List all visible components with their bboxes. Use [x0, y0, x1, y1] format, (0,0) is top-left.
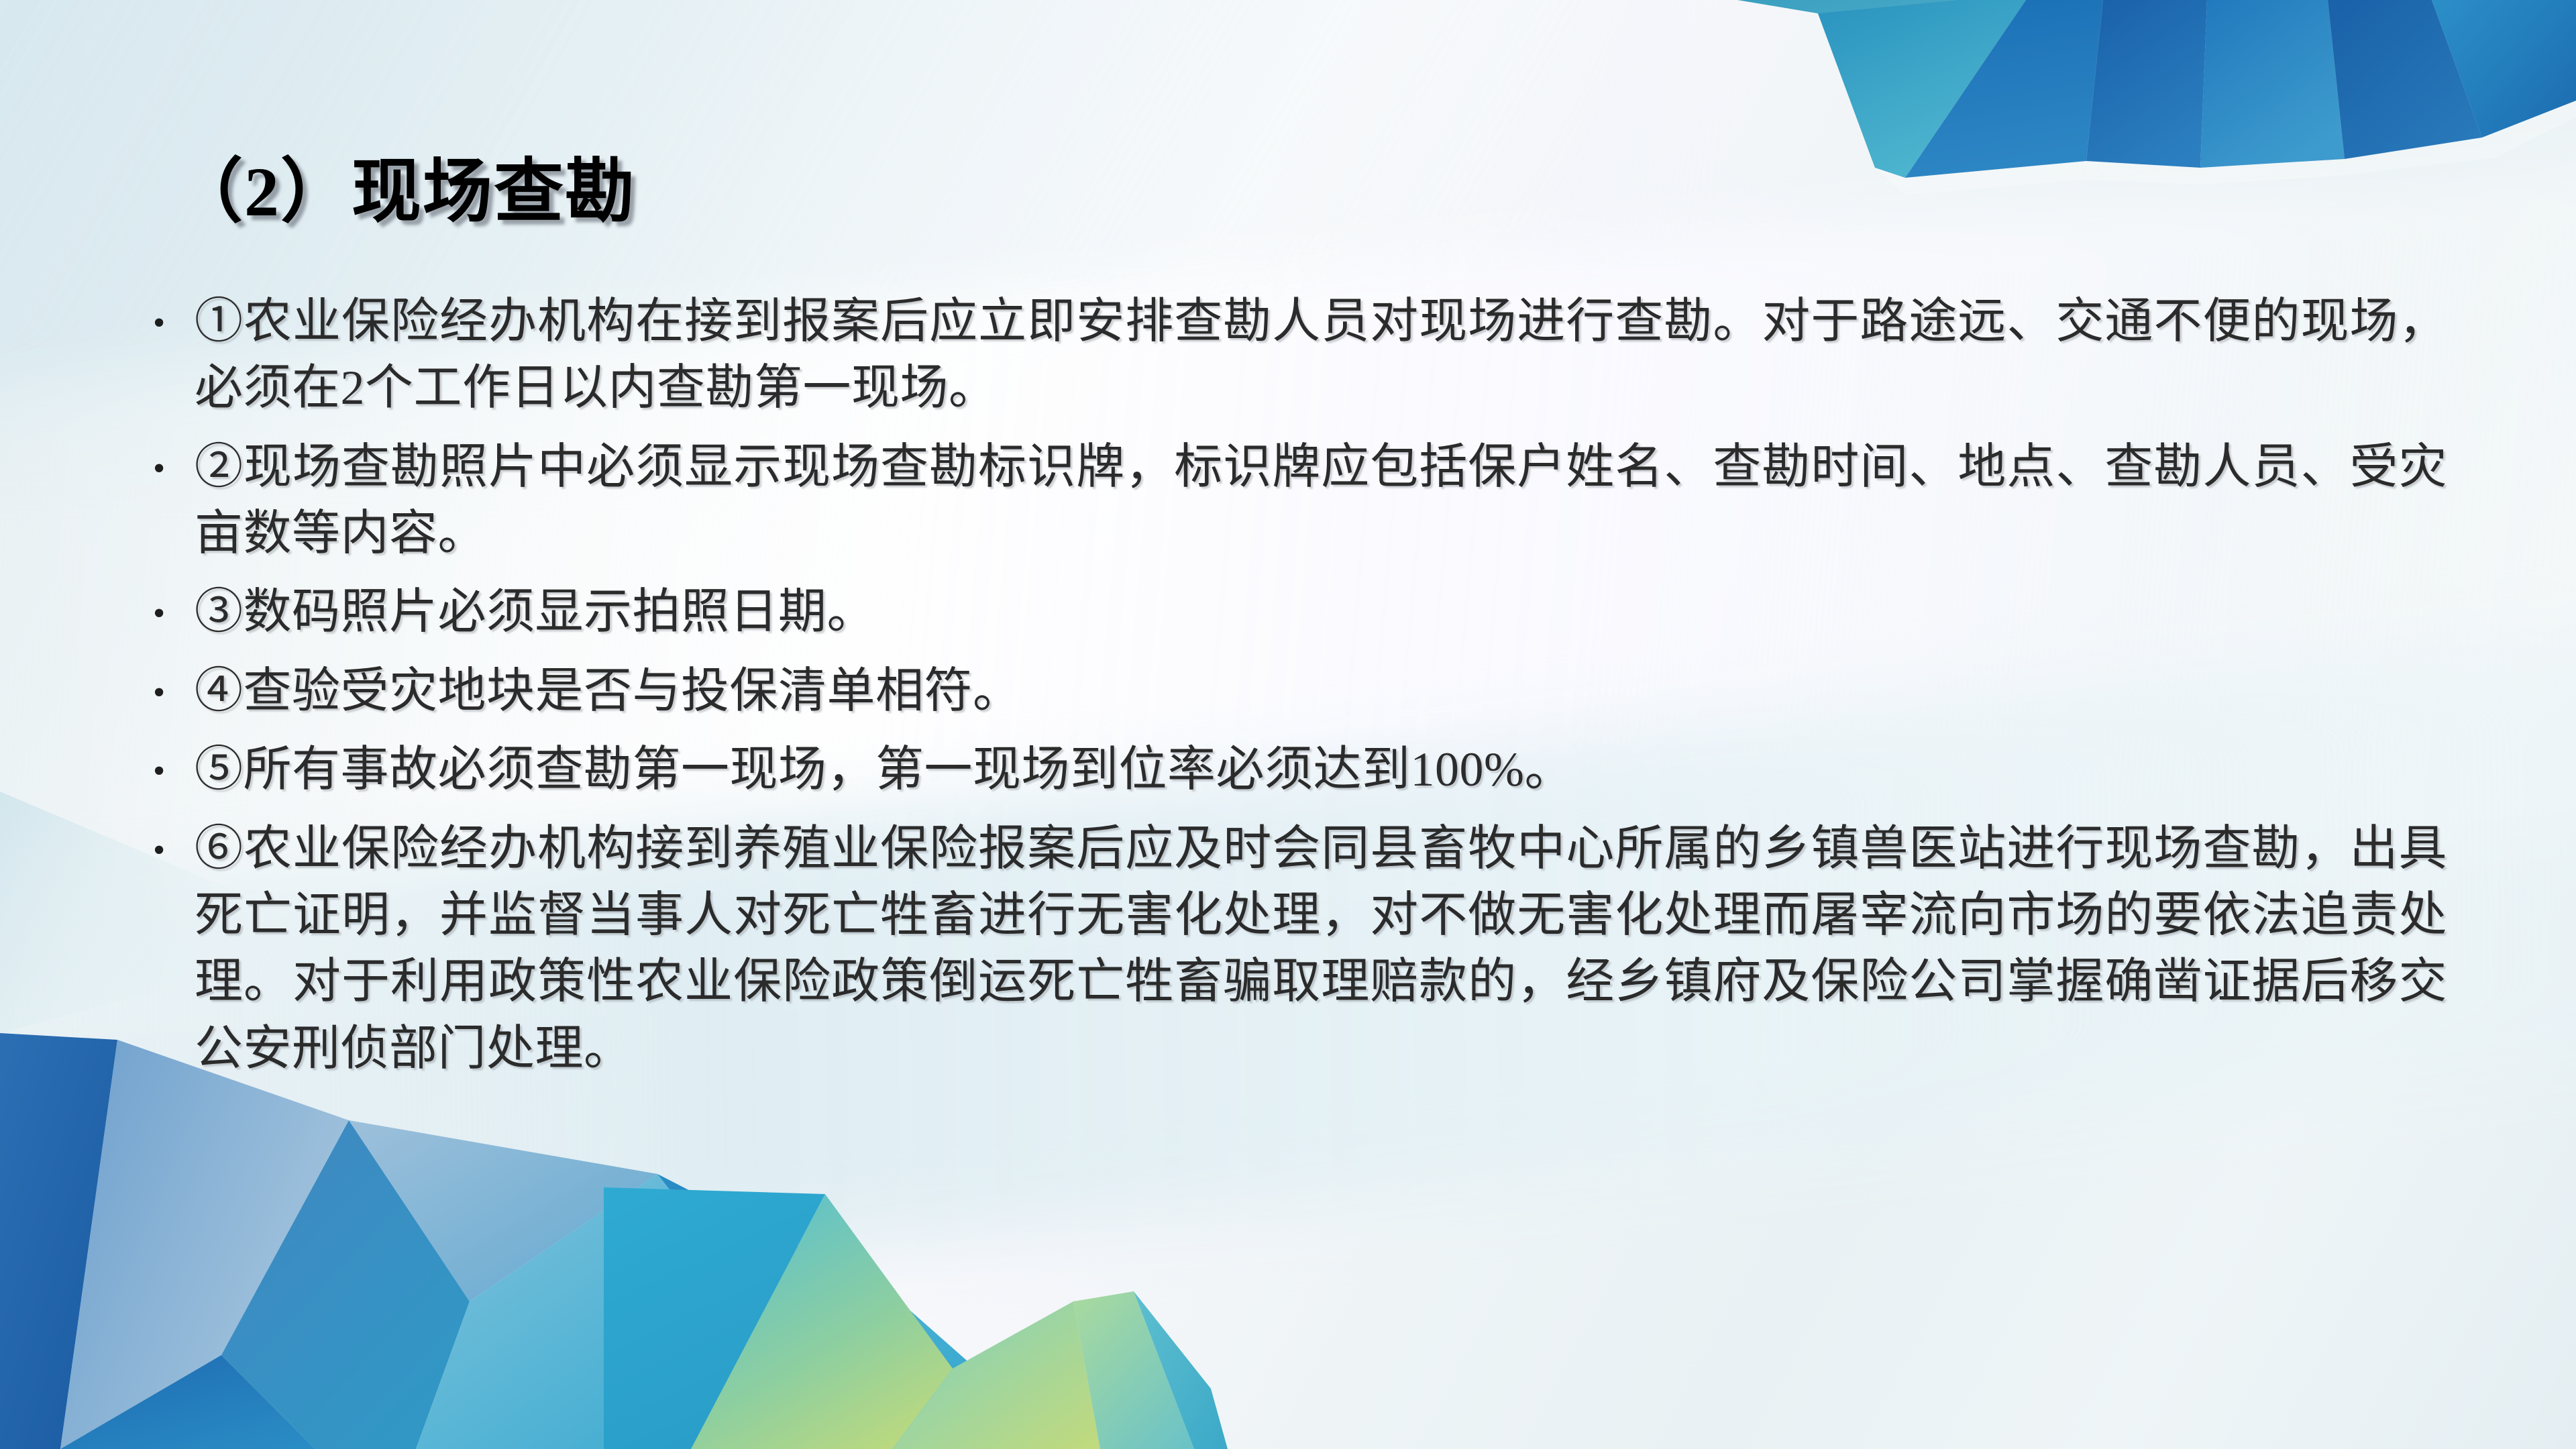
list-item-text: ①农业保险经办机构在接到报案后应立即安排查勘人员对现场进行查勘。对于路途远、交通…: [195, 288, 2447, 422]
slide-content: （2）现场查勘 ①农业保险经办机构在接到报案后应立即安排查勘人员对现场进行查勘。…: [0, 0, 2576, 1449]
page-title: （2）现场查勘: [173, 134, 636, 235]
bullet-marker-icon: [153, 658, 195, 710]
bullet-list: ①农业保险经办机构在接到报案后应立即安排查勘人员对现场进行查勘。对于路途远、交通…: [153, 288, 2447, 1094]
bullet-marker-icon: [153, 737, 195, 789]
list-item-text: ③数码照片必须显示拍照日期。: [195, 579, 2447, 645]
list-item: ⑤所有事故必须查勘第一现场，第一现场到位率必须达到100%。: [153, 737, 2447, 803]
slide-canvas: （2）现场查勘 ①农业保险经办机构在接到报案后应立即安排查勘人员对现场进行查勘。…: [0, 0, 2576, 1449]
list-item-text: ④查验受灾地块是否与投保清单相符。: [195, 658, 2447, 724]
list-item-text: ②现场查勘照片中必须显示现场查勘标识牌，标识牌应包括保户姓名、查勘时间、地点、查…: [195, 434, 2447, 568]
list-item-text: ⑥农业保险经办机构接到养殖业保险报案后应及时会同县畜牧中心所属的乡镇兽医站进行现…: [195, 816, 2447, 1082]
bullet-marker-icon: [153, 816, 195, 868]
list-item: ③数码照片必须显示拍照日期。: [153, 579, 2447, 645]
list-item: ①农业保险经办机构在接到报案后应立即安排查勘人员对现场进行查勘。对于路途远、交通…: [153, 288, 2447, 422]
bullet-marker-icon: [153, 434, 195, 486]
list-item: ②现场查勘照片中必须显示现场查勘标识牌，标识牌应包括保户姓名、查勘时间、地点、查…: [153, 434, 2447, 568]
bullet-marker-icon: [153, 288, 195, 341]
bullet-marker-icon: [153, 579, 195, 631]
list-item: ④查验受灾地块是否与投保清单相符。: [153, 658, 2447, 724]
list-item-text: ⑤所有事故必须查勘第一现场，第一现场到位率必须达到100%。: [195, 737, 2447, 803]
list-item: ⑥农业保险经办机构接到养殖业保险报案后应及时会同县畜牧中心所属的乡镇兽医站进行现…: [153, 816, 2447, 1082]
